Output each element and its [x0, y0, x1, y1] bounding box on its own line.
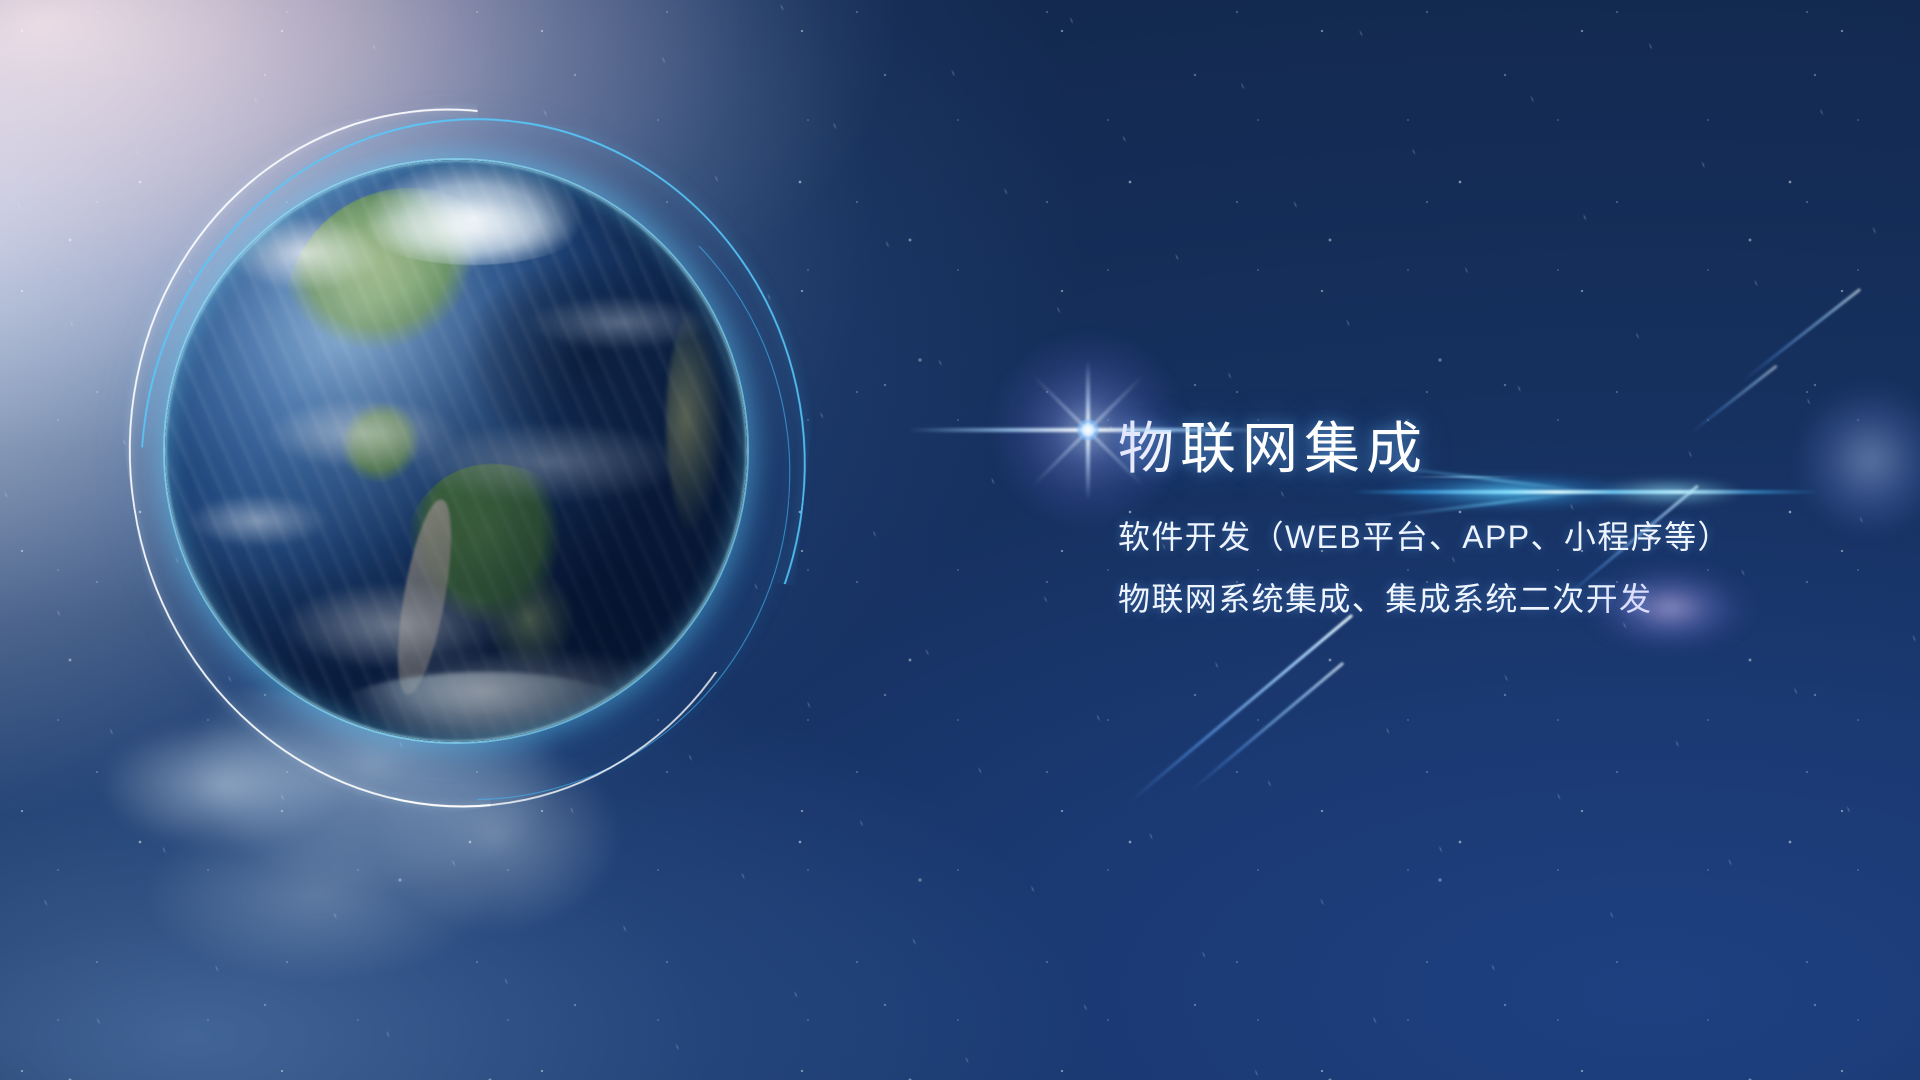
meteor-streak-icon	[1129, 614, 1353, 802]
lens-flare-core	[1077, 419, 1099, 441]
globe-rim-light	[165, 160, 747, 742]
earth-globe	[165, 160, 747, 742]
meteor-streak-icon	[1189, 662, 1344, 793]
globe-sphere	[165, 160, 747, 742]
lens-flare-violet-icon	[1560, 548, 1780, 668]
hero-banner: 物联网集成 软件开发（WEB平台、APP、小程序等） 物联网系统集成、集成系统二…	[0, 0, 1920, 1080]
